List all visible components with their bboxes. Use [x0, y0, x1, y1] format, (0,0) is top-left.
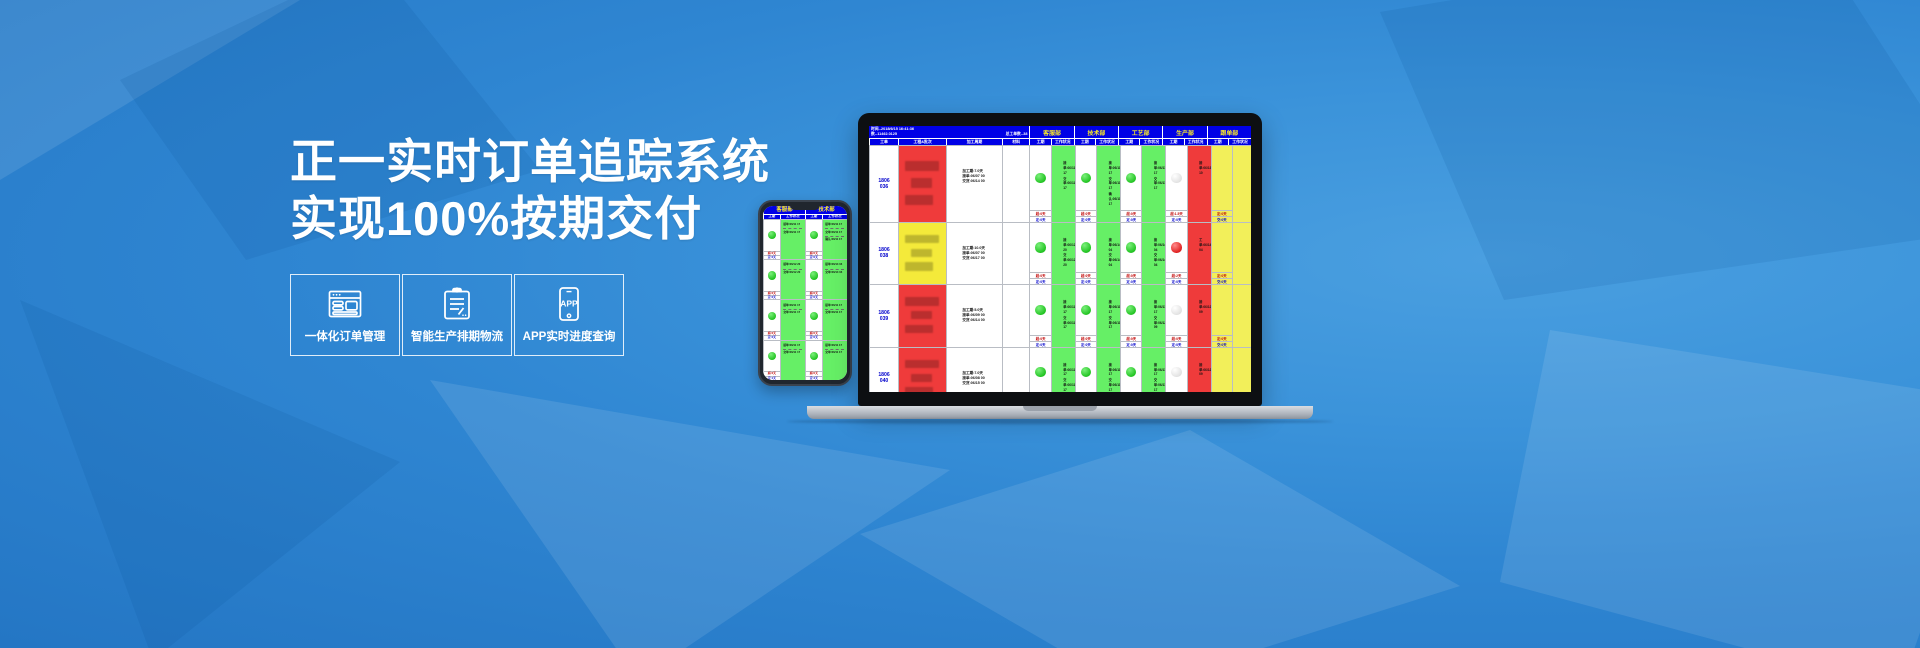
phone-table-row[interactable]: 超:0天定:0天接单:06/11 17交单:06/11 17超:0天定:0天接单…	[763, 299, 847, 339]
work-status-cell-跟单部	[1232, 146, 1251, 222]
cycle-line-2: 交货:06/15 00	[962, 381, 986, 386]
phone-status-line-0: 接单:06/11 17	[783, 344, 802, 348]
processing-cycle-cell: 加工期:5.0天接单:06/09 00交货:06/14 00	[946, 285, 1002, 346]
phone-status-dot-green	[810, 312, 818, 320]
phone-status-indicator-wrap	[764, 220, 780, 251]
status-dot-green	[1126, 242, 1136, 252]
phone-status-separator	[825, 228, 844, 229]
work-status-cell-生产部: 接单:06/12 09	[1187, 285, 1211, 346]
phone-work-status-cell: 接单:06/11 17交单:06/11 17	[780, 300, 805, 339]
status-dot-green	[1035, 173, 1045, 183]
feature-label: 一体化订单管理	[305, 328, 386, 344]
phone-status-indicator-wrap	[764, 341, 780, 372]
status-indicator-wrap	[1076, 348, 1096, 392]
department-header-row: 客服部技术部工艺部生产部跟单部	[1029, 126, 1251, 138]
phone-work-status-cell: 接单:06/11 17交单:06/11 17	[822, 300, 847, 339]
status-dot-green	[1081, 173, 1091, 183]
term-cell-技术部: 超:0天定:0天	[1075, 146, 1096, 222]
status-indicator-wrap	[1121, 146, 1141, 210]
phone-status-line-0: 接单:06/11 17	[825, 344, 844, 348]
phone-status-separator	[825, 269, 844, 270]
phone-status-line-0: 接单:06/11 17	[783, 223, 802, 227]
term-foot-fixed: 定:0天	[1166, 341, 1186, 347]
phone-term-cell: 超:0天定:0天	[805, 220, 822, 259]
term-foot-fixed: 定:0天	[1121, 278, 1141, 284]
status-indicator-wrap	[1030, 285, 1050, 334]
term-cell-技术部: 超:0天定:4天	[1075, 348, 1096, 392]
department-header-2: 工艺部	[1118, 126, 1162, 138]
column-header-生产部-工期: 工期	[1162, 138, 1183, 145]
phone-status-line-0: 接单:06/14 04	[825, 263, 844, 267]
phone-notch	[790, 205, 820, 210]
phone-work-status-cell: 接单:06/11 17交单:06/11 17	[780, 220, 805, 259]
phone-status-indicator-wrap	[764, 300, 780, 331]
meta-count: 数--11462.0125	[871, 132, 897, 137]
phone-order-tracking-dashboard: 客服部技术部工期工作状况工期工作状况超:0天定:0天接单:06/11 17交单:…	[763, 206, 847, 380]
term-cell-客服部: 超:0天定:0天	[1029, 223, 1050, 284]
column-header-技术部-工期: 工期	[1074, 138, 1095, 145]
phone-screen[interactable]: 客服部技术部工期工作状况工期工作状况超:0天定:0天接单:06/11 17交单:…	[763, 206, 847, 380]
project-text-redacted	[903, 234, 943, 272]
phone-status-line-1: 交单:06/11 17	[825, 351, 844, 355]
status-dot-green	[1035, 242, 1045, 252]
material-cell	[1002, 223, 1030, 284]
project-batch-cell	[898, 285, 946, 346]
work-order-line-2: 036	[878, 184, 889, 190]
work-order-cell: 1806038	[869, 223, 898, 284]
project-text-redacted	[903, 359, 943, 392]
phone-term-cell: 超:0天定:0天	[763, 220, 780, 259]
column-header-客服部-工期: 工期	[1029, 138, 1050, 145]
phone-status-indicator-wrap	[806, 260, 822, 291]
term-foot-fixed: 定:0天	[1076, 341, 1096, 347]
work-status-cell-跟单部	[1232, 285, 1251, 346]
work-status-cell-客服部: 接单:06/11 17交单:06/11 17	[1051, 146, 1075, 222]
term-cell-跟单部: 定:0天交:0天	[1211, 285, 1232, 346]
status-indicator-wrap	[1212, 146, 1232, 210]
cycle-line-2: 交货:06/14 00	[962, 179, 986, 184]
phone-work-status-cell: 接单:06/14 04交单:06/14 04	[822, 260, 847, 299]
work-status-cell-客服部: 接单:06/11 17交单:06/11 17	[1051, 285, 1075, 346]
column-header-材料: 材料	[1002, 138, 1030, 145]
status-dot-green	[1035, 305, 1045, 315]
phone-status-indicator-wrap	[806, 220, 822, 251]
phone-status-line-1: 交单:06/11 17	[783, 311, 802, 315]
phone-work-status-cell: 接单:06/12 20交单:06/12 20	[780, 260, 805, 299]
status-indicator-wrap	[1166, 223, 1186, 272]
work-status-cell-技术部: 接单:06/11 17交单:06/11 17确认:06/11 17	[1096, 146, 1120, 222]
phone-dashboard-rows: 超:0天定:0天接单:06/11 17交单:06/11 17超:0天定:0天接单…	[763, 219, 847, 380]
work-status-cell-工艺部: 接单:06/14 04交单:06/14 04	[1141, 223, 1165, 284]
phone-status-dot-green	[810, 271, 818, 279]
term-cell-客服部: 超:0天定:1天	[1029, 348, 1050, 392]
table-row[interactable]: 1806039加工期:5.0天接单:06/09 00交货:06/14 00超:0…	[869, 284, 1251, 346]
feature-card-app-progress[interactable]: APP APP实时进度查询	[514, 274, 624, 356]
term-cell-工艺部: 超:0天定:0天	[1120, 285, 1141, 346]
phone-term-foot-fixed: 定:0天	[806, 335, 822, 339]
status-dot-grey	[1171, 173, 1181, 183]
column-header-工艺部-工期: 工期	[1118, 138, 1139, 145]
phone-status-line-1: 交单:06/11 17	[825, 231, 844, 235]
phone-status-line-1: 交单:06/11 17	[783, 231, 802, 235]
phone-status-line-0: 接单:06/11 17	[783, 304, 802, 308]
laptop-mockup: 时间--2018/6/15 16:41:36数--11462.0125总工单数-…	[858, 113, 1333, 424]
column-header-生产部-工作状况: 工作状况	[1184, 138, 1207, 145]
work-order-text: 1806039	[878, 310, 889, 322]
term-cell-生产部: 超:0天定:4天	[1165, 348, 1186, 392]
phone-status-dot-green	[810, 352, 818, 360]
column-header-加工周期: 加工周期	[946, 138, 1002, 145]
project-text-redacted	[903, 160, 943, 207]
phone-table-row[interactable]: 超:0天定:0天接单:06/12 20交单:06/12 20超:0天定:0天接单…	[763, 259, 847, 299]
work-status-cell-生产部: 接单:06/13 10	[1187, 146, 1211, 222]
phone-term-foot-fixed: 定:0天	[764, 335, 780, 339]
bg-polygon	[1500, 330, 1920, 648]
work-status-cell-工艺部: 接单:06/11 17交单:06/12 09	[1141, 285, 1165, 346]
table-row[interactable]: 1806040加工期:7.0天接单:06/08 00交货:06/15 00超:0…	[869, 347, 1251, 392]
term-cell-生产部: 超:0天定:0天	[1165, 285, 1186, 346]
phone-status-separator	[825, 236, 844, 237]
status-indicator-wrap	[1076, 223, 1096, 272]
work-status-cell-技术部: 接单:06/11 17交单:06/11 17	[1096, 285, 1120, 346]
project-batch-cell	[898, 348, 946, 392]
project-batch-cell	[898, 223, 946, 284]
work-order-text: 1806040	[878, 372, 889, 384]
feature-card-order-management[interactable]: 一体化订单管理	[290, 274, 400, 356]
phone-table-row[interactable]: 超:0天定:1天接单:06/11 17交单:06/11 17超:0天定:4天接单…	[763, 340, 847, 380]
table-row[interactable]: 1806038加工期:10.0天接单:06/07 00交货:06/17 00超:…	[869, 222, 1251, 284]
status-dot-red	[1171, 242, 1181, 252]
column-header-跟单部-工作状况: 工作状况	[1228, 138, 1251, 145]
column-header-工程&批次: 工程&批次	[898, 138, 946, 145]
status-indicator-wrap	[1166, 285, 1186, 334]
phone-status-dot-green	[768, 231, 776, 239]
term-cell-技术部: 超:0天定:0天	[1075, 223, 1096, 284]
meta-count-line: 数--11462.0125总工单数--38	[871, 132, 1027, 137]
status-indicator-wrap	[1166, 146, 1186, 210]
status-indicator-wrap	[1212, 223, 1232, 272]
term-foot-fixed: 交:0天	[1212, 278, 1232, 284]
dashboard-header: 时间--2018/6/15 16:41:36数--11462.0125总工单数-…	[869, 126, 1251, 138]
phone-status-separator	[783, 309, 802, 310]
work-order-cell: 1806040	[869, 348, 898, 392]
phone-work-status-cell: 接单:06/11 17交单:06/11 17	[822, 341, 847, 380]
status-dot-grey	[1171, 305, 1181, 315]
phone-status-dot-green	[810, 231, 818, 239]
status-dot-grey	[1171, 367, 1181, 377]
term-cell-技术部: 超:0天定:0天	[1075, 285, 1096, 346]
status-indicator-wrap	[1212, 348, 1232, 392]
term-foot-fixed: 交:0天	[1212, 216, 1232, 222]
phone-status-line-1: 交单:06/14 04	[825, 271, 844, 275]
phone-status-indicator-wrap	[806, 300, 822, 331]
processing-cycle-cell: 加工期:10.0天接单:06/07 00交货:06/17 00	[946, 223, 1002, 284]
status-indicator-wrap	[1030, 223, 1050, 272]
phone-status-line-2: 确认:06/11 17	[825, 238, 844, 242]
laptop-lid: 时间--2018/6/15 16:41:36数--11462.0125总工单数-…	[858, 113, 1262, 406]
term-cell-客服部: 超:0天定:0天	[1029, 146, 1050, 222]
work-order-text: 1806038	[878, 247, 889, 259]
term-cell-跟单部: 定:0天交:0天	[1211, 146, 1232, 222]
work-order-cell: 1806039	[869, 285, 898, 346]
term-cell-生产部: 超:1.5天定:0天	[1165, 146, 1186, 222]
department-header-4: 跟单部	[1207, 126, 1251, 138]
department-header-3: 生产部	[1162, 126, 1206, 138]
term-cell-工艺部: 超:0天定:0天	[1120, 223, 1141, 284]
work-status-cell-工艺部: 接单:06/11 17交单:06/11 17	[1141, 348, 1165, 392]
phone-status-line-1: 交单:06/12 20	[783, 271, 802, 275]
phone-status-separator	[825, 309, 844, 310]
phone-term-foot-fixed: 定:4天	[806, 376, 822, 380]
term-foot-fixed: 交:0天	[1212, 341, 1232, 347]
dashboard-rows: 1806036加工期:7.0天接单:06/07 00交货:06/14 00超:0…	[869, 145, 1251, 392]
work-status-cell-技术部: 接单:06/14 04交单:06/14 04	[1096, 223, 1120, 284]
dashboard-window-icon	[327, 286, 363, 322]
phone-status-dot-green	[768, 312, 776, 320]
feature-card-smart-scheduling[interactable]: 智能生产排期物流	[402, 274, 512, 356]
work-status-cell-跟单部	[1232, 348, 1251, 392]
status-dot-green	[1126, 367, 1136, 377]
phone-status-line-0: 接单:06/12 20	[783, 263, 802, 267]
column-header-跟单部-工期: 工期	[1207, 138, 1228, 145]
project-text-redacted	[903, 296, 943, 334]
status-indicator-wrap	[1030, 348, 1050, 392]
cycle-line-2: 交货:06/17 00	[962, 256, 986, 261]
phone-work-status-cell: 接单:06/11 17交单:06/11 17确认:06/11 17	[822, 220, 847, 259]
order-tracking-dashboard: 时间--2018/6/15 16:41:36数--11462.0125总工单数-…	[869, 126, 1251, 392]
material-cell	[1002, 348, 1030, 392]
phone-term-foot-fixed: 定:1天	[764, 376, 780, 380]
term-foot-fixed: 定:0天	[1076, 278, 1096, 284]
phone-work-status-cell: 接单:06/11 17交单:06/11 17	[780, 341, 805, 380]
work-status-cell-客服部: 接单:06/12 20交单:06/12 20	[1051, 223, 1075, 284]
work-order-line-2: 039	[878, 316, 889, 322]
status-dot-green	[1126, 305, 1136, 315]
work-order-line-2: 038	[878, 253, 889, 259]
status-dot-green	[1126, 173, 1136, 183]
phone-term-foot-fixed: 定:0天	[806, 295, 822, 299]
term-cell-客服部: 超:0天定:0天	[1029, 285, 1050, 346]
feature-label: APP实时进度查询	[523, 328, 616, 344]
column-header-row: 工单工程&批次加工周期材料工期工作状况工期工作状况工期工作状况工期工作状况工期工…	[869, 138, 1251, 145]
laptop-screen[interactable]: 时间--2018/6/15 16:41:36数--11462.0125总工单数-…	[869, 126, 1251, 392]
phone-term-cell: 超:0天定:0天	[805, 300, 822, 339]
processing-cycle-cell: 加工期:7.0天接单:06/07 00交货:06/14 00	[946, 146, 1002, 222]
phone-term-cell: 超:0天定:0天	[763, 260, 780, 299]
status-indicator-wrap	[1212, 285, 1232, 334]
table-row[interactable]: 1806036加工期:7.0天接单:06/07 00交货:06/14 00超:0…	[869, 145, 1251, 222]
meta-total: 总工单数--38	[1006, 132, 1028, 137]
bg-polygon	[860, 430, 1460, 648]
term-cell-工艺部: 超:0天定:4天	[1120, 348, 1141, 392]
material-cell	[1002, 146, 1030, 222]
term-cell-生产部: 超:2天定:0天	[1165, 223, 1186, 284]
work-order-line-1: 1806	[878, 310, 889, 316]
status-dot-green	[1081, 305, 1091, 315]
phone-status-line-1: 交单:06/11 17	[783, 351, 802, 355]
term-foot-fixed: 定:0天	[1030, 341, 1050, 347]
laptop-base	[807, 406, 1313, 419]
status-indicator-wrap	[1121, 285, 1141, 334]
phone-status-indicator-wrap	[764, 260, 780, 291]
column-header-工艺部-工作状况: 工作状况	[1139, 138, 1162, 145]
phone-status-dot-green	[768, 271, 776, 279]
work-status-cell-跟单部	[1232, 223, 1251, 284]
meta-spacer	[897, 132, 1006, 137]
phone-mockup: 客服部技术部工期工作状况工期工作状况超:0天定:0天接单:06/11 17交单:…	[758, 200, 852, 386]
term-foot-fixed: 定:0天	[1166, 216, 1186, 222]
term-cell-跟单部: 定:4天交:0天	[1211, 348, 1232, 392]
column-header-工单: 工单	[869, 138, 898, 145]
status-indicator-wrap	[1076, 285, 1096, 334]
processing-cycle-cell: 加工期:7.0天接单:06/08 00交货:06/15 00	[946, 348, 1002, 392]
laptop-shadow	[787, 419, 1333, 424]
phone-term-cell: 超:0天定:4天	[805, 341, 822, 380]
term-foot-fixed: 定:0天	[1121, 216, 1141, 222]
work-status-cell-技术部: 接单:06/11 17交单:06/11 17	[1096, 348, 1120, 392]
phone-term-cell: 超:0天定:0天	[805, 260, 822, 299]
work-order-text: 1806036	[878, 178, 889, 190]
department-header-0: 客服部	[1029, 126, 1073, 138]
clipboard-edit-icon	[442, 286, 472, 322]
column-header-客服部-工作状况: 工作状况	[1051, 138, 1074, 145]
phone-term-cell: 超:0天定:0天	[763, 300, 780, 339]
work-status-cell-客服部: 接单:06/11 17交单:06/11 17	[1051, 348, 1075, 392]
work-order-line-2: 040	[878, 378, 889, 384]
term-foot-fixed: 定:0天	[1030, 216, 1050, 222]
phone-status-line-0: 接单:06/11 17	[825, 304, 844, 308]
dashboard-meta: 时间--2018/6/15 16:41:36数--11462.0125总工单数-…	[869, 126, 1029, 138]
status-dot-green	[1081, 242, 1091, 252]
project-batch-cell	[898, 146, 946, 222]
phone-status-separator	[783, 228, 802, 229]
term-cell-工艺部: 超:0天定:0天	[1120, 146, 1141, 222]
term-foot-fixed: 定:0天	[1166, 278, 1186, 284]
status-indicator-wrap	[1076, 146, 1096, 210]
status-dot-green	[1081, 367, 1091, 377]
app-icon-text: APP	[560, 299, 578, 309]
mobile-app-icon: APP	[556, 286, 582, 322]
work-status-cell-工艺部: 接单:06/11 17交单:06/11 17	[1141, 146, 1165, 222]
work-order-cell: 1806036	[869, 146, 898, 222]
status-indicator-wrap	[1121, 348, 1141, 392]
term-foot-fixed: 定:0天	[1121, 341, 1141, 347]
material-cell	[1002, 285, 1030, 346]
phone-term-foot-fixed: 定:0天	[764, 255, 780, 259]
bg-polygon	[1380, 0, 1920, 300]
phone-status-dot-green	[768, 352, 776, 360]
phone-status-line-1: 交单:06/11 17	[825, 311, 844, 315]
status-indicator-wrap	[1030, 146, 1050, 210]
term-foot-fixed: 定:0天	[1030, 278, 1050, 284]
phone-term-foot-fixed: 定:0天	[806, 255, 822, 259]
feature-label: 智能生产排期物流	[411, 328, 503, 344]
status-indicator-wrap	[1121, 223, 1141, 272]
phone-term-cell: 超:0天定:1天	[763, 341, 780, 380]
phone-status-line-0: 接单:06/11 17	[825, 223, 844, 227]
term-foot-fixed: 定:0天	[1076, 216, 1096, 222]
term-cell-跟单部: 定:0天交:0天	[1211, 223, 1232, 284]
work-order-line-1: 1806	[878, 178, 889, 184]
phone-status-separator	[783, 269, 802, 270]
phone-status-indicator-wrap	[806, 341, 822, 372]
department-header-1: 技术部	[1074, 126, 1118, 138]
work-status-cell-生产部: 接单:06/12 09	[1187, 348, 1211, 392]
cycle-line-2: 交货:06/14 00	[962, 318, 986, 323]
status-indicator-wrap	[1166, 348, 1186, 392]
work-status-cell-生产部: 工单:06/14 04	[1187, 223, 1211, 284]
column-header-技术部-工作状况: 工作状况	[1095, 138, 1118, 145]
phone-table-row[interactable]: 超:0天定:0天接单:06/11 17交单:06/11 17超:0天定:0天接单…	[763, 219, 847, 259]
status-dot-green	[1035, 367, 1045, 377]
phone-term-foot-fixed: 定:0天	[764, 295, 780, 299]
